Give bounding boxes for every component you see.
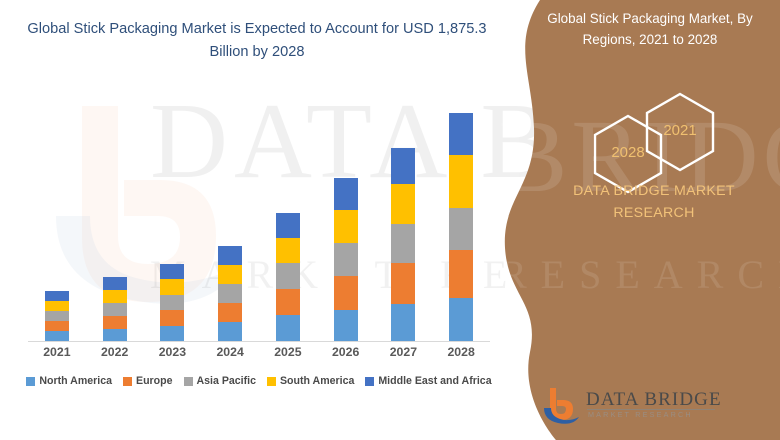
stacked-bar-2027[interactable]	[391, 148, 415, 341]
bar-segment[interactable]	[449, 113, 473, 155]
bar-segment[interactable]	[45, 321, 69, 331]
legend-item[interactable]: Europe	[123, 375, 173, 387]
stacked-bar-2023[interactable]	[160, 264, 184, 341]
bar-segment[interactable]	[218, 284, 242, 303]
bar-segment[interactable]	[45, 291, 69, 301]
bar-segment[interactable]	[103, 290, 127, 303]
bar-segment[interactable]	[391, 304, 415, 341]
bar-segment[interactable]	[276, 263, 300, 289]
legend-label: Middle East and Africa	[378, 375, 491, 387]
bar-segment[interactable]	[45, 311, 69, 321]
stacked-bar-2026[interactable]	[334, 178, 358, 341]
stacked-bar-2025[interactable]	[276, 213, 300, 341]
x-tick-2024: 2024	[201, 345, 259, 365]
x-axis-tick-labels: 20212022202320242025202620272028	[28, 345, 490, 365]
legend-label: North America	[39, 375, 112, 387]
bar-segment[interactable]	[160, 326, 184, 341]
hexagon-label-2028: 2028	[596, 144, 660, 161]
bar-segment[interactable]	[391, 184, 415, 224]
bar-segment[interactable]	[391, 263, 415, 304]
panel-watermark-bottom: RESEARCH	[500, 255, 780, 295]
legend-label: Europe	[136, 375, 173, 387]
x-axis-line	[28, 341, 490, 342]
legend-swatch-icon	[184, 377, 193, 386]
legend-item[interactable]: Middle East and Africa	[365, 375, 491, 387]
logo-tagline: MARKET RESEARCH	[588, 410, 693, 419]
hexagon-pair: 2028 2021	[580, 88, 750, 198]
data-bridge-b-mark-icon	[540, 386, 584, 428]
legend-swatch-icon	[267, 377, 276, 386]
hexagon-2028-shape	[595, 116, 661, 192]
stacked-bar-2024[interactable]	[218, 246, 242, 341]
bar-segment[interactable]	[218, 246, 242, 265]
bar-slot-2022	[86, 90, 144, 341]
bar-slot-2021	[28, 90, 86, 341]
bar-slot-2023	[144, 90, 202, 341]
bar-segment[interactable]	[334, 310, 358, 341]
bar-segment[interactable]	[276, 238, 300, 263]
bar-segment[interactable]	[334, 243, 358, 276]
legend-item[interactable]: South America	[267, 375, 354, 387]
bar-segment[interactable]	[160, 310, 184, 326]
panel-heading: Global Stick Packaging Market, By Region…	[530, 8, 770, 51]
bar-segment[interactable]	[391, 224, 415, 263]
x-tick-2022: 2022	[86, 345, 144, 365]
stacked-bar-2022[interactable]	[103, 277, 127, 341]
bar-slot-2027	[375, 90, 433, 341]
hexagon-2021-shape	[647, 94, 713, 170]
bar-segment[interactable]	[276, 289, 300, 315]
bar-segment[interactable]	[334, 178, 358, 210]
bar-segment[interactable]	[218, 303, 242, 322]
infographic-canvas: DATA BRIDGE MARKET RESEARCH Global Stick…	[0, 0, 780, 440]
legend-item[interactable]: Asia Pacific	[184, 375, 256, 387]
bar-segment[interactable]	[160, 264, 184, 279]
x-tick-2021: 2021	[28, 345, 86, 365]
hexagon-label-2021: 2021	[648, 122, 712, 139]
bar-segment[interactable]	[391, 148, 415, 184]
bar-segment[interactable]	[45, 301, 69, 311]
bar-segment[interactable]	[218, 265, 242, 284]
bar-segment[interactable]	[103, 316, 127, 329]
data-bridge-logo: DATA BRIDGE MARKET RESEARCH	[540, 385, 740, 427]
bar-segment[interactable]	[103, 303, 127, 316]
x-tick-2026: 2026	[317, 345, 375, 365]
bar-segment[interactable]	[103, 277, 127, 290]
chart-title: Global Stick Packaging Market is Expecte…	[22, 18, 492, 63]
bar-segment[interactable]	[449, 155, 473, 208]
logo-divider	[587, 409, 715, 410]
bar-slot-2024	[201, 90, 259, 341]
bar-segment[interactable]	[160, 295, 184, 310]
bar-slot-2026	[317, 90, 375, 341]
bar-slot-2028	[432, 90, 490, 341]
brand-name-text: DATA BRIDGE MARKET RESEARCH	[540, 180, 768, 224]
chart-legend: North AmericaEuropeAsia PacificSouth Ame…	[16, 375, 502, 387]
stacked-bars-group	[28, 90, 490, 341]
stacked-bar-2021[interactable]	[45, 291, 69, 341]
legend-swatch-icon	[365, 377, 374, 386]
logo-wordmark: DATA BRIDGE	[586, 389, 722, 411]
bar-segment[interactable]	[103, 329, 127, 341]
x-tick-2027: 2027	[375, 345, 433, 365]
bar-segment[interactable]	[45, 331, 69, 341]
stacked-bar-2028[interactable]	[449, 113, 473, 341]
x-tick-2025: 2025	[259, 345, 317, 365]
bar-segment[interactable]	[334, 276, 358, 310]
bar-segment[interactable]	[218, 322, 242, 341]
bar-segment[interactable]	[449, 250, 473, 298]
bar-segment[interactable]	[334, 210, 358, 243]
legend-swatch-icon	[123, 377, 132, 386]
bar-segment[interactable]	[160, 279, 184, 295]
panel-watermark-top: BRIDGE	[498, 105, 780, 209]
chart-plot-area	[0, 90, 500, 342]
bar-segment[interactable]	[449, 298, 473, 341]
x-tick-2023: 2023	[144, 345, 202, 365]
x-tick-2028: 2028	[432, 345, 490, 365]
bar-segment[interactable]	[276, 213, 300, 238]
bar-slot-2025	[259, 90, 317, 341]
legend-label: Asia Pacific	[197, 375, 256, 387]
legend-label: South America	[280, 375, 354, 387]
bar-segment[interactable]	[449, 208, 473, 250]
legend-item[interactable]: North America	[26, 375, 112, 387]
legend-swatch-icon	[26, 377, 35, 386]
bar-segment[interactable]	[276, 315, 300, 341]
